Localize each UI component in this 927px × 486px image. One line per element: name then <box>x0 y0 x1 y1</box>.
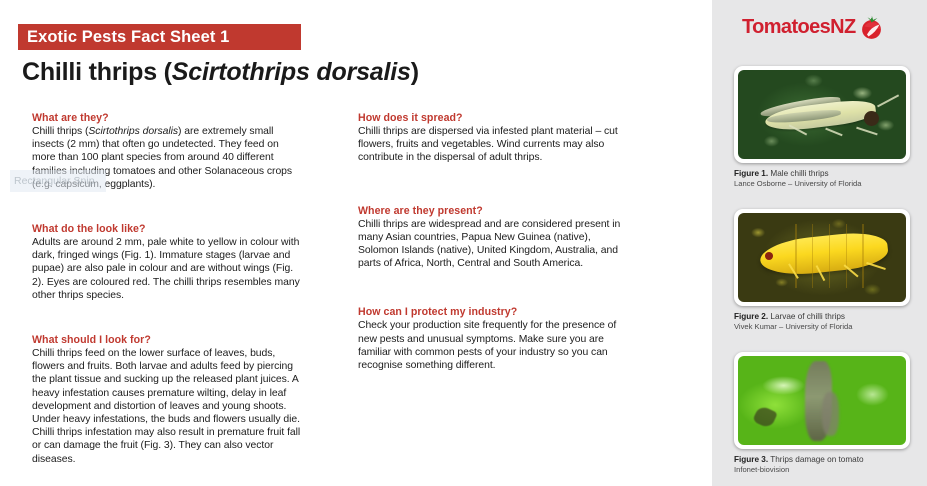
figure-3-credit: Infonet-biovision <box>734 465 916 475</box>
tomatoesnz-logo: TomatoesNZ <box>742 14 884 40</box>
left-column: What are they? Chilli thrips (Scirtothri… <box>32 112 302 480</box>
spacer <box>358 179 626 205</box>
document-body: Exotic Pests Fact Sheet 1 Chilli thrips … <box>0 0 712 486</box>
figure-2-photo-chilli-thrips-larva <box>738 213 906 302</box>
page-title-close: ) <box>411 58 419 86</box>
section-heading: What do the look like? <box>32 223 302 235</box>
figure-1-photo-male-chilli-thrips <box>738 70 906 159</box>
section-heading: How does it spread? <box>358 112 626 124</box>
larva-segment <box>862 224 864 288</box>
body-species: Scirtothrips dorsalis <box>88 126 178 137</box>
section-body: Chilli thrips are dispersed via infested… <box>358 125 626 165</box>
figure-3-photo-thrips-damage-on-tomato <box>738 356 906 445</box>
figure-3: Figure 3. Thrips damage on tomato Infone… <box>734 352 910 475</box>
figure-1-caption-text: Figure 1. Male chilli thrips <box>734 169 916 179</box>
figure-3-number: Figure 3. <box>734 455 768 464</box>
figure-3-caption-text: Figure 3. Thrips damage on tomato <box>734 455 916 465</box>
fact-sheet-page: Exotic Pests Fact Sheet 1 Chilli thrips … <box>0 0 927 486</box>
section-how-can-i-protect-my-industry: How can I protect my industry? Check you… <box>358 306 626 372</box>
thrips-damage-area <box>822 392 839 437</box>
figure-3-frame <box>734 352 910 449</box>
section-heading: Where are they present? <box>358 205 626 217</box>
larva-leg <box>866 262 886 270</box>
page-title-common: Chilli thrips ( <box>22 58 172 86</box>
fact-sheet-banner: Exotic Pests Fact Sheet 1 <box>18 24 301 50</box>
figure-1: Figure 1. Male chilli thrips Lance Osbor… <box>734 66 910 189</box>
section-what-do-they-look-like: What do the look like? Adults are around… <box>32 223 302 302</box>
figure-2-title: Larvae of chilli thrips <box>768 312 845 321</box>
tomato-icon <box>858 14 884 40</box>
body-pre: Chilli thrips ( <box>32 126 88 137</box>
figure-1-frame <box>734 66 910 163</box>
tomato-highlight <box>762 376 806 396</box>
figure-3-caption: Figure 3. Thrips damage on tomato Infone… <box>734 455 916 475</box>
thrips-antenna <box>877 95 898 107</box>
middle-column: How does it spread? Chilli thrips are di… <box>358 112 626 386</box>
thrips-head <box>864 111 879 126</box>
figure-1-number: Figure 1. <box>734 169 768 178</box>
figure-2-caption-text: Figure 2. Larvae of chilli thrips <box>734 312 916 322</box>
sidebar: TomatoesNZ <box>712 0 927 486</box>
figure-1-caption: Figure 1. Male chilli thrips Lance Osbor… <box>734 169 916 189</box>
thrips-leg <box>856 126 877 134</box>
spacer <box>358 284 626 306</box>
larva-segment <box>829 224 831 288</box>
figure-3-title: Thrips damage on tomato <box>768 455 863 464</box>
figure-1-title: Male chilli thrips <box>768 169 829 178</box>
tomato-highlight <box>856 383 890 406</box>
section-body: Chilli thrips (Scirtothrips dorsalis) ar… <box>32 125 302 191</box>
figure-2-caption: Figure 2. Larvae of chilli thrips Vivek … <box>734 312 916 332</box>
section-what-should-i-look-for: What should I look for? Chilli thrips fe… <box>32 334 302 466</box>
section-body: Adults are around 2 mm, pale white to ye… <box>32 236 302 302</box>
figure-2-number: Figure 2. <box>734 312 768 321</box>
section-heading: How can I protect my industry? <box>358 306 626 318</box>
figure-2-credit: Vivek Kumar – University of Florida <box>734 322 916 332</box>
section-heading: What should I look for? <box>32 334 302 346</box>
larva-segment <box>812 224 814 288</box>
section-what-are-they: What are they? Chilli thrips (Scirtothri… <box>32 112 302 191</box>
larva-segment <box>846 224 848 288</box>
section-how-does-it-spread: How does it spread? Chilli thrips are di… <box>358 112 626 165</box>
section-body: Check your production site frequently fo… <box>358 319 626 372</box>
larva-body <box>758 230 889 279</box>
figure-2: Figure 2. Larvae of chilli thrips Vivek … <box>734 209 910 332</box>
thrips-leg <box>826 127 844 135</box>
section-body: Chilli thrips feed on the lower surface … <box>32 347 302 466</box>
spacer <box>32 316 302 334</box>
figure-1-credit: Lance Osborne – University of Florida <box>734 179 916 189</box>
section-heading: What are they? <box>32 112 302 124</box>
page-title-species: Scirtothrips dorsalis <box>172 58 411 86</box>
page-title: Chilli thrips (Scirtothrips dorsalis) <box>22 58 419 87</box>
spacer <box>32 205 302 223</box>
logo-wordmark: TomatoesNZ <box>742 16 856 39</box>
tomato-scar <box>752 404 778 429</box>
figure-2-frame <box>734 209 910 306</box>
section-where-are-they-present: Where are they present? Chilli thrips ar… <box>358 205 626 271</box>
section-body: Chilli thrips are widespread and are con… <box>358 218 626 271</box>
